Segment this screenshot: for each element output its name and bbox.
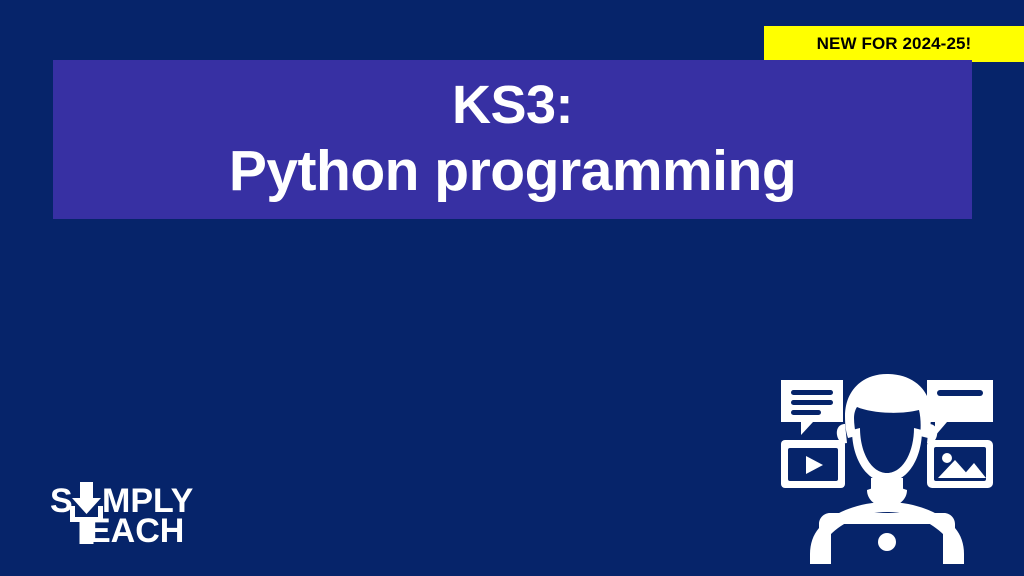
logo-letter-s: S	[50, 482, 73, 520]
video-player-play-icon	[781, 440, 845, 488]
new-for-2024-25-badge: NEW FOR 2024-25!	[764, 26, 1024, 62]
title-line-2: Python programming	[229, 138, 796, 205]
new-badge-label: NEW FOR 2024-25!	[817, 34, 972, 54]
simply-teach-logo: S MPLY EACH	[50, 480, 200, 546]
laptop-logo-dot	[878, 533, 896, 551]
image-photo-icon	[927, 440, 993, 488]
title-line-1: KS3:	[452, 74, 573, 138]
slide-canvas: NEW FOR 2024-25! KS3: Python programming…	[0, 0, 1024, 576]
speech-bubble-icon	[927, 380, 993, 436]
title-banner: KS3: Python programming	[53, 60, 972, 219]
chat-bubble-lines-icon	[781, 380, 843, 435]
illustration-person-at-laptop	[775, 368, 999, 564]
